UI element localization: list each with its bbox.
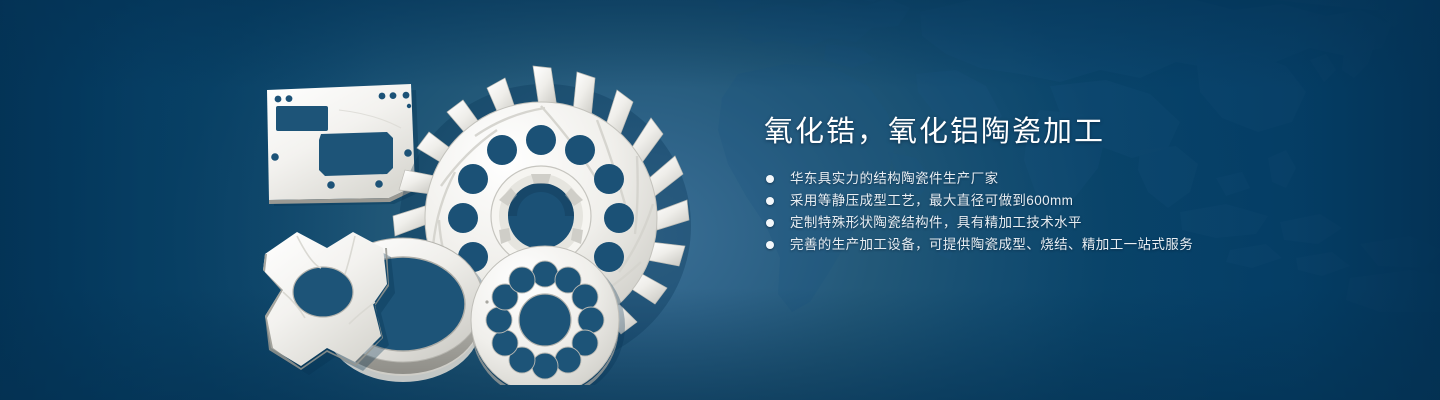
bullet-dot-icon <box>766 175 774 183</box>
list-item-label: 完善的生产加工设备，可提供陶瓷成型、烧结、精加工一站式服务 <box>790 237 1193 252</box>
bullet-dot-icon <box>766 241 774 249</box>
list-item: 采用等静压成型工艺，最大直径可做到600mm <box>764 190 1384 212</box>
list-item: 定制特殊形状陶瓷结构件，具有精加工技术水平 <box>764 212 1384 234</box>
product-ceramic-plate <box>267 84 420 206</box>
list-item-label: 采用等静压成型工艺，最大直径可做到600mm <box>790 193 1073 208</box>
product-image-group <box>235 40 695 385</box>
list-item: 华东具实力的结构陶瓷件生产厂家 <box>764 168 1384 190</box>
list-item-label: 华东具实力的结构陶瓷件生产厂家 <box>790 171 999 186</box>
feature-list: 华东具实力的结构陶瓷件生产厂家 采用等静压成型工艺，最大直径可做到600mm 定… <box>764 168 1384 256</box>
list-item-label: 定制特殊形状陶瓷结构件，具有精加工技术水平 <box>790 215 1082 230</box>
product-ceramic-cross-part <box>263 232 395 375</box>
bullet-dot-icon <box>766 219 774 227</box>
bullet-dot-icon <box>766 197 774 205</box>
banner-copy: 氧化锆，氧化铝陶瓷加工 华东具实力的结构陶瓷件生产厂家 采用等静压成型工艺，最大… <box>764 112 1384 256</box>
page-title: 氧化锆，氧化铝陶瓷加工 <box>764 112 1384 152</box>
hero-banner: 氧化锆，氧化铝陶瓷加工 华东具实力的结构陶瓷件生产厂家 采用等静压成型工艺，最大… <box>0 0 1440 400</box>
list-item: 完善的生产加工设备，可提供陶瓷成型、烧结、精加工一站式服务 <box>764 234 1384 256</box>
